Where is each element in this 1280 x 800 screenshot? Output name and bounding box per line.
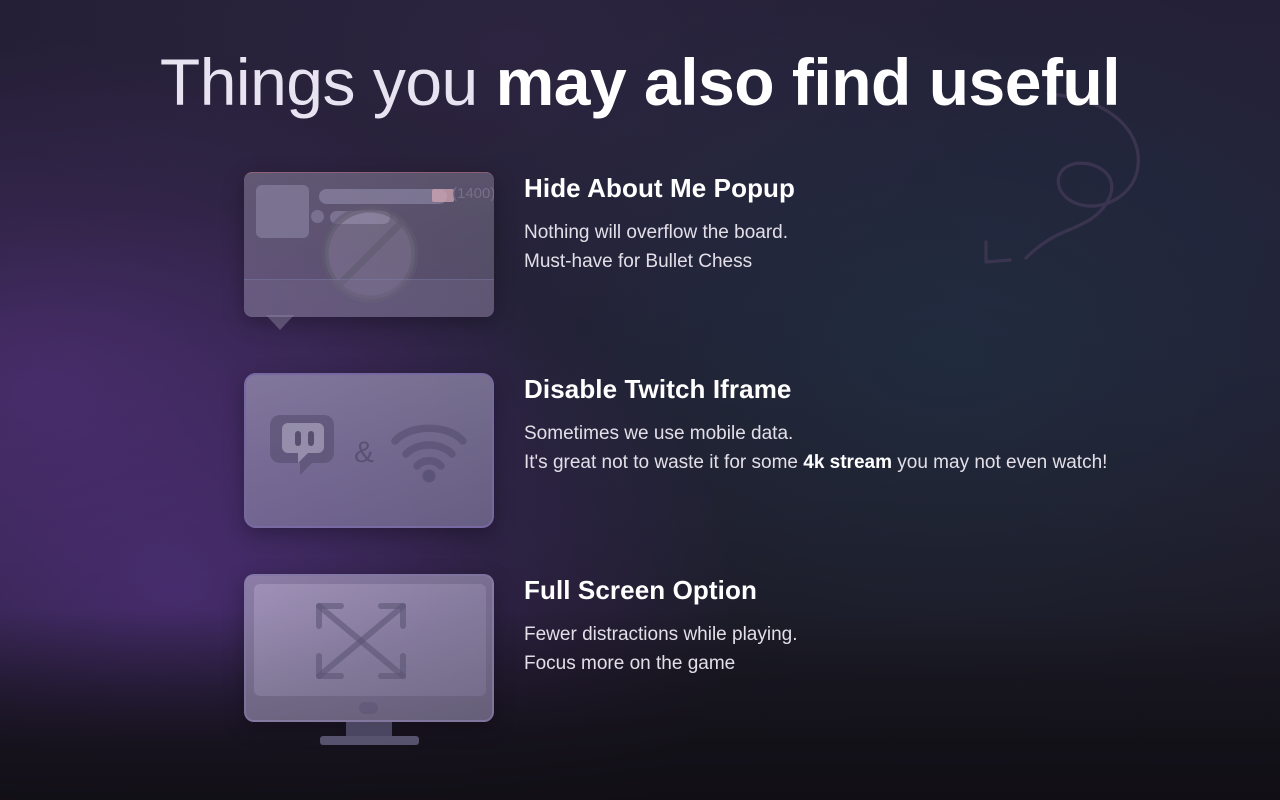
feature-copy: Hide About Me Popup Nothing will overflo… bbox=[524, 172, 1164, 276]
popup-tail bbox=[266, 315, 294, 330]
feature-thumbnail-monitor bbox=[244, 572, 494, 732]
feature-description-line1: Fewer distractions while playing. bbox=[524, 624, 798, 645]
feature-description-line2: Must-have for Bullet Chess bbox=[524, 251, 752, 272]
feature-thumbnail-popup: (1400) bbox=[244, 170, 494, 330]
feature-copy: Disable Twitch Iframe Sometimes we use m… bbox=[524, 373, 1164, 477]
feature-description: Nothing will overflow the board. Must-ha… bbox=[524, 218, 1164, 276]
feature-list: (1400) Hide About Me Popup Nothing will … bbox=[0, 0, 1280, 800]
feature-description-line2: Focus more on the game bbox=[524, 653, 735, 674]
popup-footer bbox=[244, 279, 494, 317]
feature-description: Fewer distractions while playing. Focus … bbox=[524, 620, 1164, 678]
feature-description-highlight: 4k stream bbox=[803, 452, 892, 473]
monitor-body bbox=[244, 574, 494, 722]
skeleton-avatar bbox=[256, 185, 309, 238]
player-rating-label: (1400) bbox=[452, 185, 494, 202]
feature-title: Full Screen Option bbox=[524, 574, 1164, 606]
monitor-power-led bbox=[359, 702, 378, 714]
skeleton-flag bbox=[432, 189, 454, 202]
twitch-icon bbox=[268, 413, 340, 489]
feature-description-line2-a: It's great not to waste it for some bbox=[524, 452, 803, 473]
twitch-wifi-mockup: & bbox=[244, 373, 494, 528]
feature-description-line1: Nothing will overflow the board. bbox=[524, 222, 788, 243]
promo-page: Things you may also find useful (1400) bbox=[0, 0, 1280, 800]
feature-thumbnail-twitch: & bbox=[244, 371, 494, 531]
feature-description-line1: Sometimes we use mobile data. bbox=[524, 423, 793, 444]
expand-arrows-icon bbox=[309, 596, 413, 686]
monitor-stand-neck bbox=[346, 722, 392, 736]
page-title-light: Things you bbox=[160, 45, 496, 119]
ampersand-separator: & bbox=[354, 436, 374, 470]
skeleton-username-bar bbox=[319, 189, 447, 204]
feature-title: Disable Twitch Iframe bbox=[524, 373, 1164, 405]
popup-mockup: (1400) bbox=[244, 172, 494, 317]
monitor-stand-base bbox=[320, 736, 419, 745]
monitor-mockup bbox=[244, 574, 494, 729]
feature-description: Sometimes we use mobile data. It's great… bbox=[524, 419, 1164, 477]
wifi-icon bbox=[388, 416, 470, 486]
feature-copy: Full Screen Option Fewer distractions wh… bbox=[524, 574, 1164, 678]
feature-title: Hide About Me Popup bbox=[524, 172, 1164, 204]
page-title: Things you may also find useful bbox=[0, 44, 1280, 120]
feature-description-line2-b: you may not even watch! bbox=[892, 452, 1107, 473]
page-title-bold: may also find useful bbox=[496, 45, 1120, 119]
